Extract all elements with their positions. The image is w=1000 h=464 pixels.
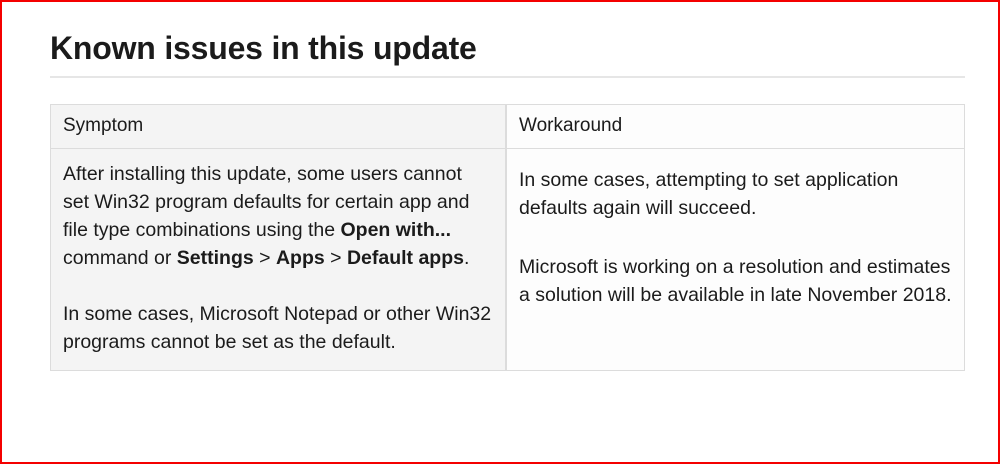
cell-workaround: In some cases, attempting to set applica… [506, 149, 965, 371]
body-text: > [254, 247, 276, 269]
cell-paragraph: Microsoft is working on a resolution and… [519, 253, 952, 309]
table-header-row: Symptom Workaround [50, 104, 965, 149]
cell-symptom: After installing this update, some users… [50, 149, 506, 371]
table-header: Symptom Workaround [50, 104, 965, 149]
cell-paragraph: In some cases, Microsoft Notepad or othe… [63, 300, 493, 356]
body-text: . [464, 247, 469, 269]
cell-paragraph: After installing this update, some users… [63, 160, 493, 272]
column-header-symptom: Symptom [50, 104, 506, 149]
emphasized-text: Settings [177, 247, 254, 269]
body-text: In some cases, Microsoft Notepad or othe… [63, 303, 491, 353]
table-row: After installing this update, some users… [50, 149, 965, 371]
emphasized-text: Apps [276, 247, 325, 269]
known-issues-table: Symptom Workaround After installing this… [50, 104, 965, 371]
body-text: In some cases, attempting to set applica… [519, 169, 898, 219]
emphasized-text: Default apps [347, 247, 464, 269]
cell-paragraph: In some cases, attempting to set applica… [519, 166, 952, 222]
body-text: > [325, 247, 347, 269]
page-title: Known issues in this update [50, 2, 965, 78]
emphasized-text: Open with... [341, 219, 452, 241]
content-area: Known issues in this update Symptom Work… [50, 2, 965, 371]
page-frame: Known issues in this update Symptom Work… [0, 0, 1000, 464]
body-text: command or [63, 247, 177, 269]
column-header-workaround: Workaround [506, 104, 965, 149]
body-text: Microsoft is working on a resolution and… [519, 256, 952, 306]
table-body: After installing this update, some users… [50, 149, 965, 371]
